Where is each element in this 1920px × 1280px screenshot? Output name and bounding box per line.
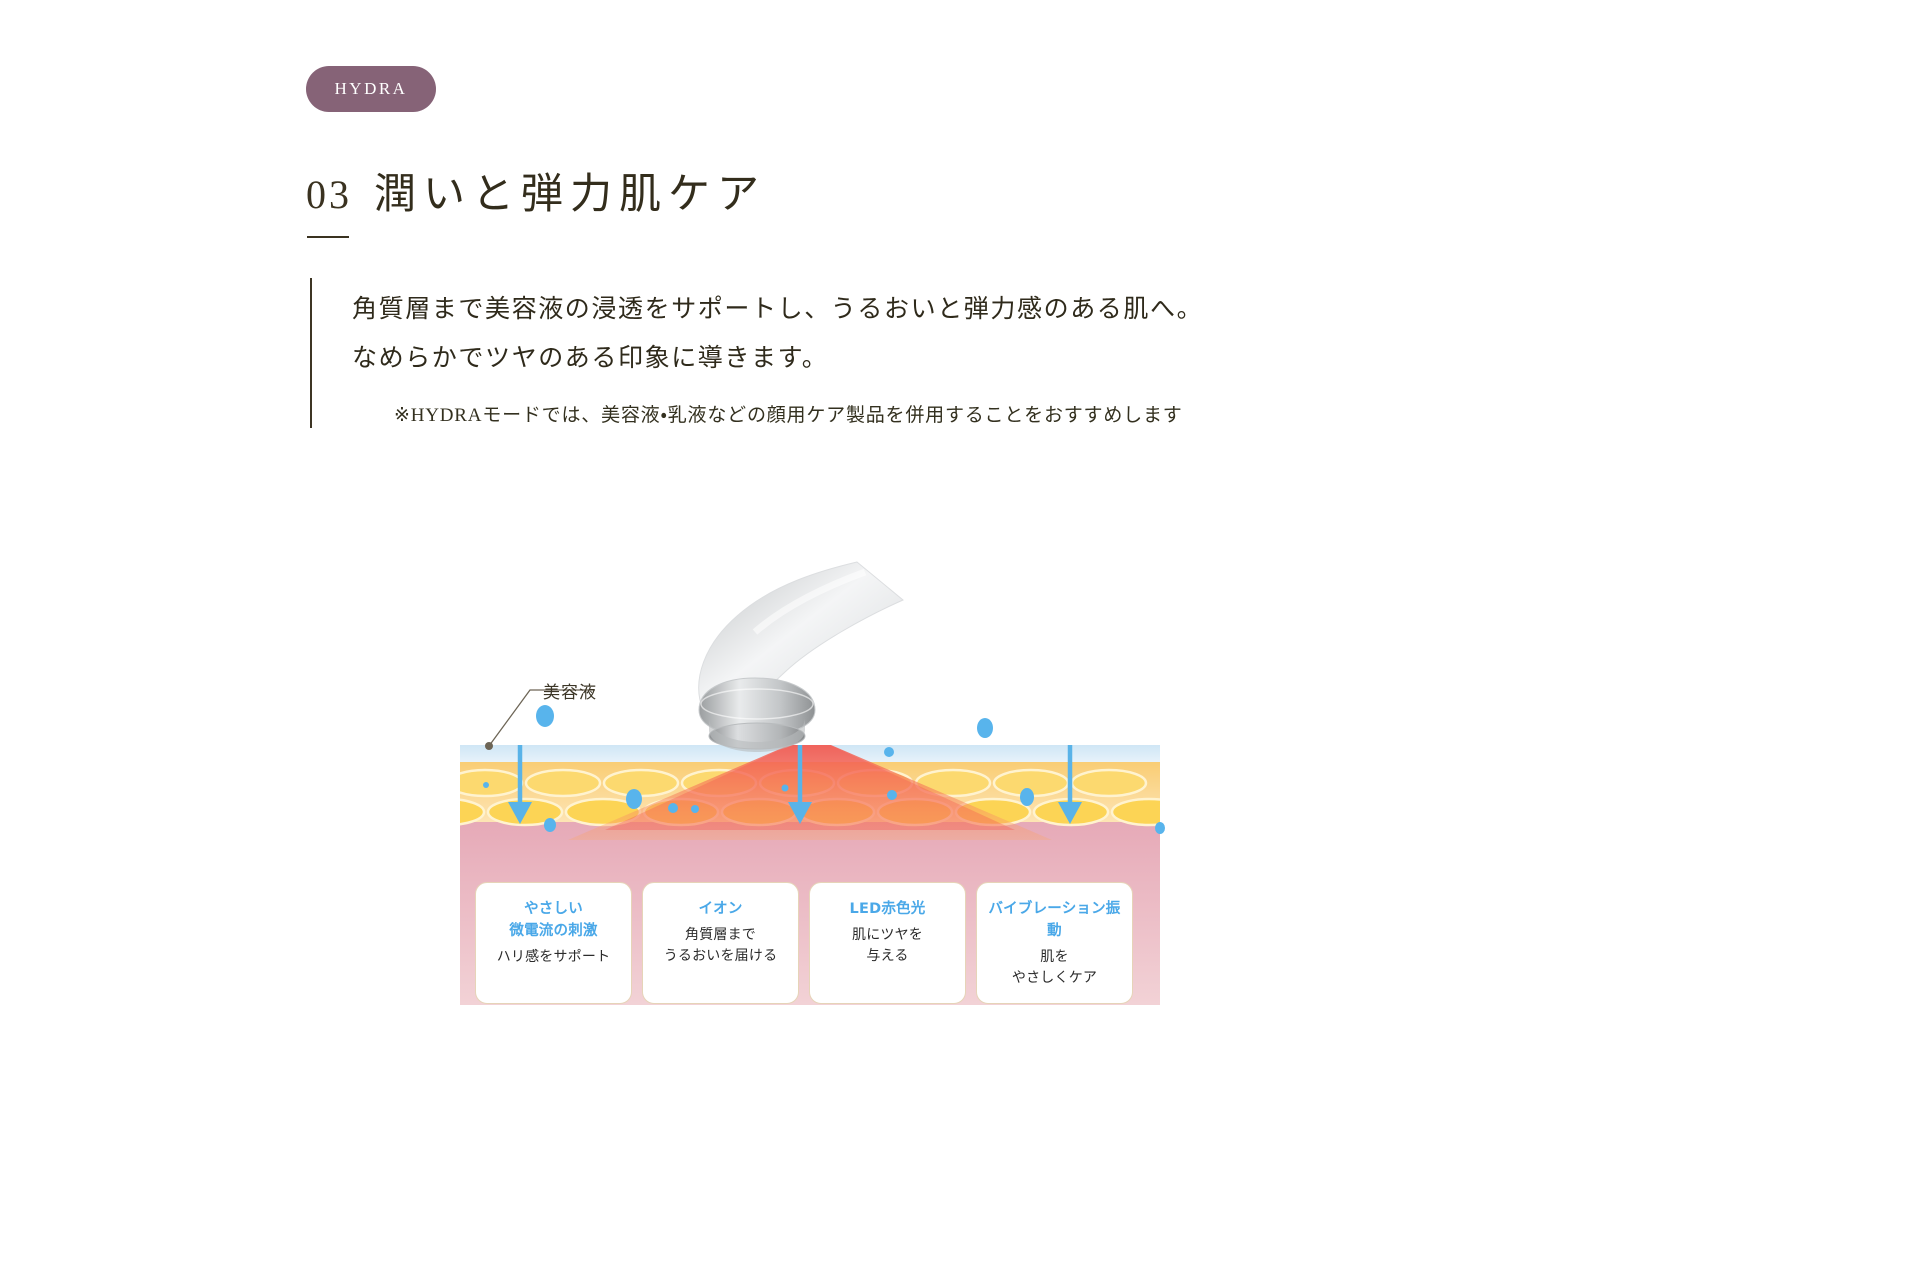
page-title: 潤いと弾力肌ケア [374, 160, 766, 221]
hydra-mode-badge-label: HYDRA [335, 79, 408, 99]
feature-card-body-line-2: うるおいを届ける [649, 946, 792, 967]
feature-card-title-line-1: バイブレーション振動 [983, 899, 1126, 943]
feature-card-body: 肌を やさしくケア [983, 947, 1126, 989]
section-heading: 03 潤いと弾力肌ケア [306, 160, 766, 224]
lead-note: ※HYDRAモードでは、美容液・乳液などの顔用ケア製品を併用することをおすすめし… [394, 400, 1203, 427]
feature-card-list: やさしい 微電流の刺激 ハリ感をサポート イオン 角質層まで うるおいを届ける … [475, 882, 1153, 1004]
feature-card-body: 角質層まで うるおいを届ける [649, 925, 792, 967]
feature-card-body-line-2: 与える [816, 946, 959, 967]
feature-card: やさしい 微電流の刺激 ハリ感をサポート [475, 882, 632, 1004]
feature-card-title: イオン [649, 899, 792, 921]
feature-card-body: 肌にツヤを 与える [816, 925, 959, 967]
serum-callout-dot [485, 742, 493, 750]
section-number: 03 [306, 171, 352, 224]
feature-card-title: LED赤色光 [816, 899, 959, 921]
lead-description-block: 角質層まで美容液の浸透をサポートし、うるおいと弾力感のある肌へ。 なめらかでツヤ… [310, 278, 1203, 428]
feature-card-body-line-1: 肌を [983, 947, 1126, 968]
feature-card-title-line-1: やさしい [482, 899, 625, 921]
lead-line-1: 角質層まで美容液の浸透をサポートし、うるおいと弾力感のある肌へ。 [352, 286, 1203, 335]
feature-card-body-line-2: やさしくケア [983, 968, 1126, 989]
feature-card-title-line-1: イオン [649, 899, 792, 921]
feature-card-body-line-1: 肌にツヤを [816, 925, 959, 946]
feature-card-body-line-1: ハリ感をサポート [482, 947, 625, 968]
feature-card-body: ハリ感をサポート [482, 947, 625, 968]
device-handle [699, 562, 903, 752]
lead-line-2: なめらかでツヤのある印象に導きます。 [352, 335, 1203, 384]
serum-callout-label: 美容液 [543, 678, 597, 703]
feature-card: LED赤色光 肌にツヤを 与える [809, 882, 966, 1004]
feature-card-title: バイブレーション振動 [983, 899, 1126, 943]
feature-card-title-line-1: LED赤色光 [816, 899, 959, 921]
feature-card-title-line-2: 微電流の刺激 [482, 921, 625, 943]
feature-card: イオン 角質層まで うるおいを届ける [642, 882, 799, 1004]
feature-card-title: やさしい 微電流の刺激 [482, 899, 625, 943]
feature-card: バイブレーション振動 肌を やさしくケア [976, 882, 1133, 1004]
feature-card-body-line-1: 角質層まで [649, 925, 792, 946]
hydra-mode-badge: HYDRA [306, 66, 436, 112]
